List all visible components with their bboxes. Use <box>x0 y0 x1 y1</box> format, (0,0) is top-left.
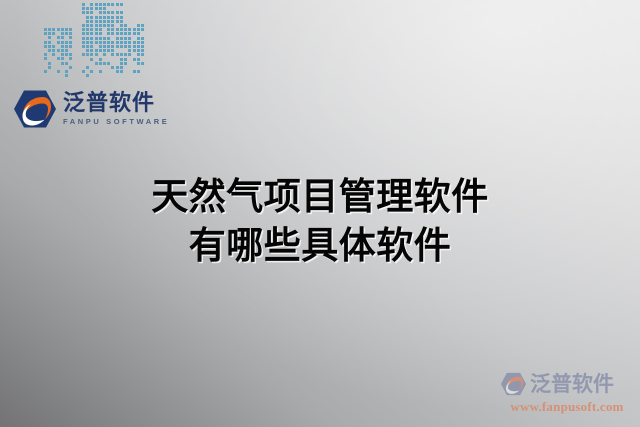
banner-canvas: 泛普软件 FANPU SOFTWARE 天然气项目管理软件 有哪些具体软件 泛普… <box>0 0 640 427</box>
fanpu-hexagon-logo-icon <box>13 89 57 129</box>
brand-wordmark: 泛普软件 FANPU SOFTWARE <box>63 93 169 126</box>
headline-line-2: 有哪些具体软件 <box>0 221 640 270</box>
watermark-url: www.fanpusoft.com <box>500 399 634 415</box>
pixel-cityscape-decoration <box>44 2 144 88</box>
brand-name-cn: 泛普软件 <box>63 93 169 115</box>
watermark-logo-row: 泛普软件 <box>500 370 634 398</box>
headline: 天然气项目管理软件 有哪些具体软件 <box>0 172 640 270</box>
brand-logo: 泛普软件 FANPU SOFTWARE <box>13 86 173 132</box>
fanpu-hexagon-logo-watermark-icon <box>500 372 527 396</box>
brand-name-en: FANPU SOFTWARE <box>63 118 169 126</box>
watermark: 泛普软件 www.fanpusoft.com <box>500 370 634 418</box>
watermark-name-cn: 泛普软件 <box>530 374 614 395</box>
headline-line-1: 天然气项目管理软件 <box>0 172 640 221</box>
